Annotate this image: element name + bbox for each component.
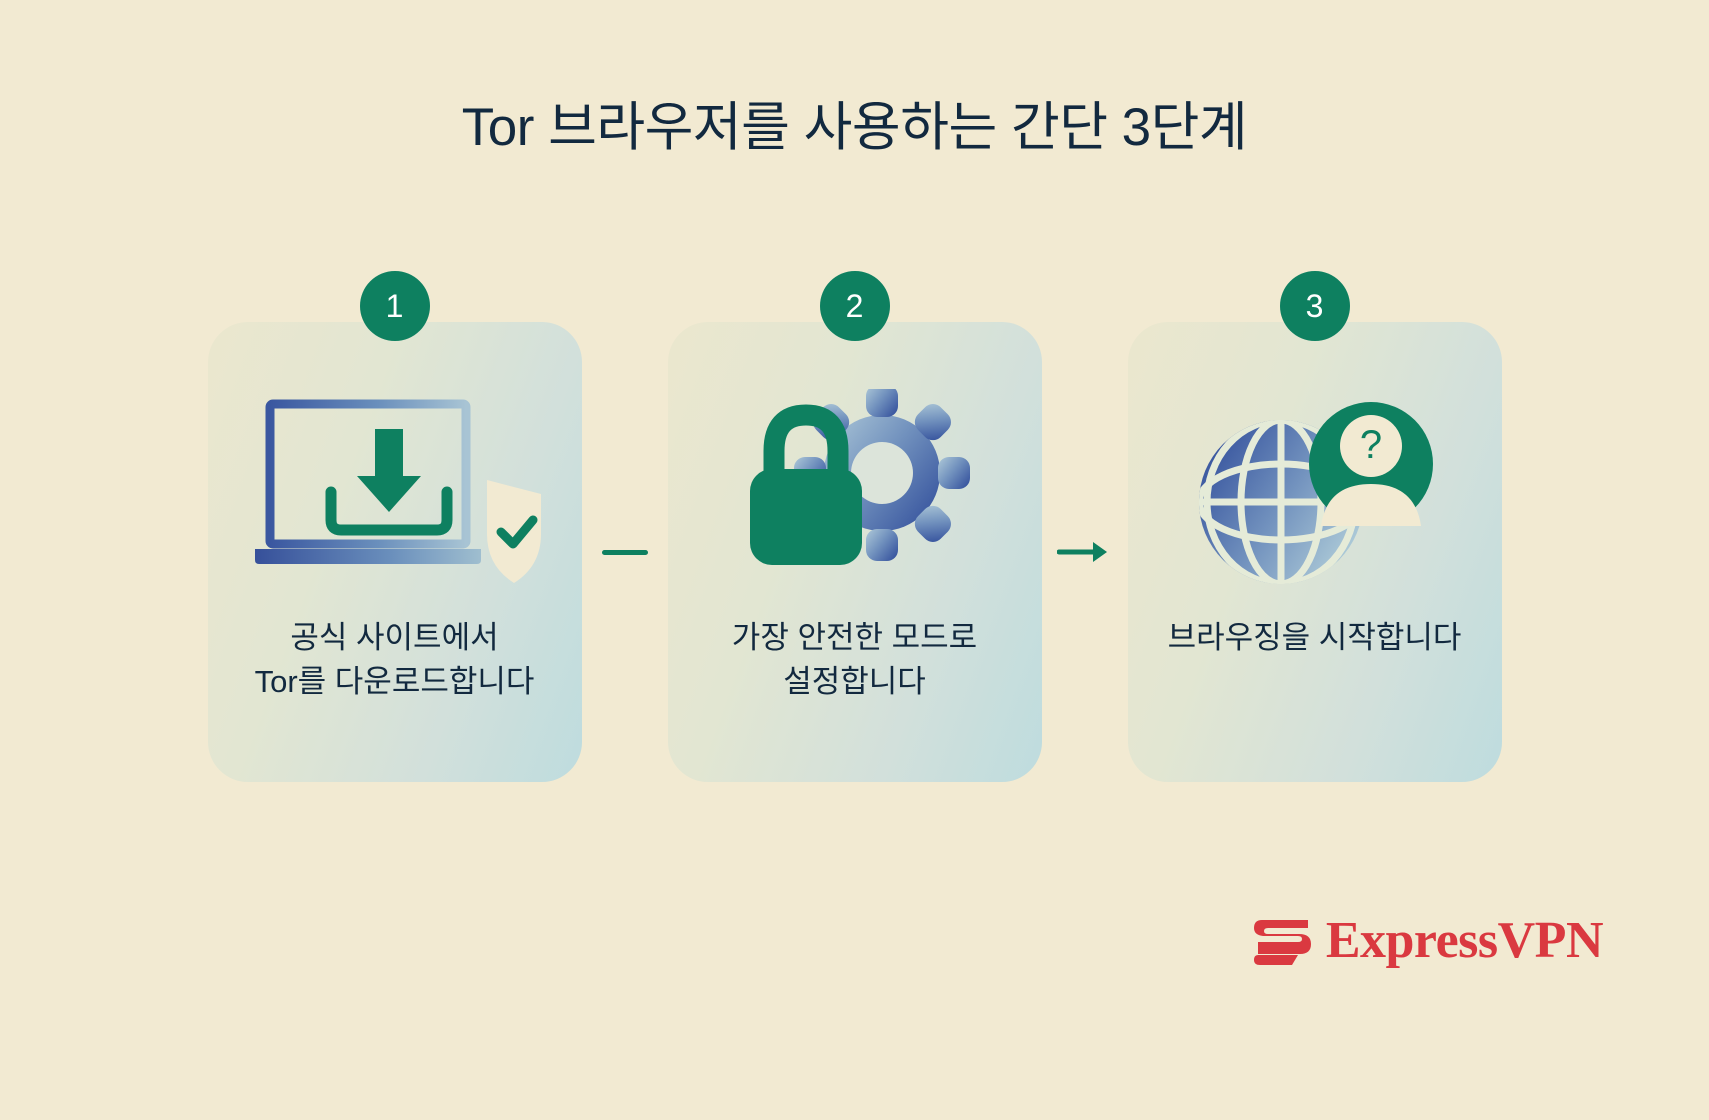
step-number-badge-3: 3 (1280, 271, 1350, 341)
steps-row: 1 (0, 322, 1709, 782)
expressvpn-wordmark: ExpressVPN (1326, 915, 1603, 967)
padlock-icon (750, 415, 862, 565)
lock-gear-illustration (730, 389, 980, 589)
step-number-badge-2: 2 (820, 271, 890, 341)
step-icon-group-3: ? (1128, 374, 1502, 604)
download-arrow-icon (331, 429, 447, 530)
step-caption-1: 공식 사이트에서 Tor를 다운로드합니다 (208, 616, 582, 704)
expressvpn-logo: ExpressVPN (1252, 914, 1603, 968)
step-card-1: 1 (208, 322, 582, 782)
globe-avatar-illustration: ? (1185, 384, 1445, 594)
laptop-download-shield-illustration (245, 384, 545, 594)
step-icon-group-2 (668, 374, 1042, 604)
connector-dash (582, 322, 668, 782)
arrow-right-icon (1057, 539, 1113, 565)
user-question-avatar-icon: ? (1309, 402, 1433, 526)
step-caption-3: 브라우징을 시작합니다 (1128, 616, 1502, 660)
step-caption-2: 가장 안전한 모드로 설정합니다 (668, 616, 1042, 704)
expressvpn-mark-icon (1252, 914, 1314, 968)
step-icon-group-1 (208, 374, 582, 604)
step-number-badge-1: 1 (360, 271, 430, 341)
connector-arrow (1042, 322, 1128, 782)
question-mark-glyph: ? (1359, 423, 1381, 467)
dash-line-icon (602, 550, 648, 555)
page-title: Tor 브라우저를 사용하는 간단 3단계 (0, 96, 1709, 160)
step-card-2: 2 (668, 322, 1042, 782)
shield-check-icon (487, 480, 541, 583)
step-card-3: 3 (1128, 322, 1502, 782)
